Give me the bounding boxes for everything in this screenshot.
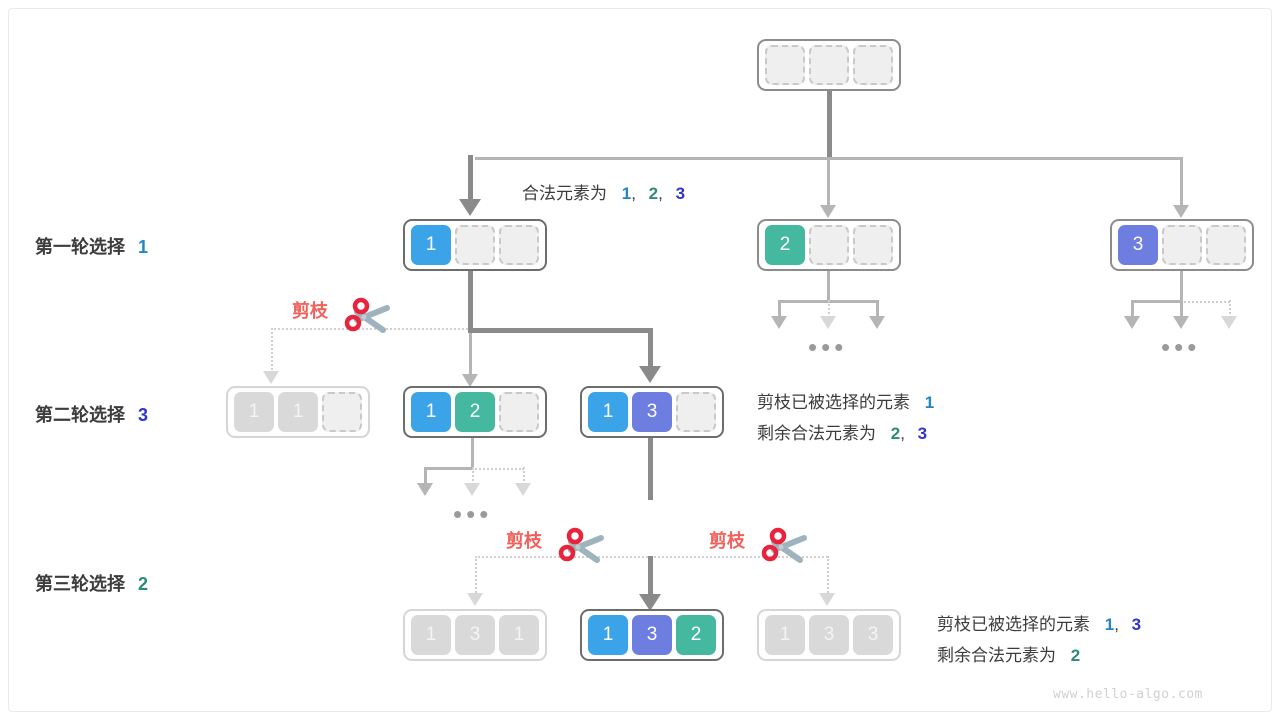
note-legal-v1: 1: [622, 184, 631, 203]
note-legal-v3: 3: [676, 184, 685, 203]
prune-dotted-v-2: [475, 556, 477, 596]
edge-root-right-v: [1180, 157, 1183, 207]
note-row3-line1-v1: 1: [1105, 615, 1114, 634]
cell[interactable]: 2: [676, 615, 716, 655]
cell[interactable]: [499, 392, 539, 432]
edge-root-stem: [827, 91, 832, 157]
cell[interactable]: 3: [632, 615, 672, 655]
cell[interactable]: 1: [234, 392, 274, 432]
edge-r2mid-stem: [471, 434, 474, 468]
ellipsis-1: •••: [808, 334, 847, 360]
edge-root-mid-arrow: [820, 205, 836, 218]
edge-r1right-h: [1131, 300, 1183, 303]
note-legal-v2: 2: [649, 184, 658, 203]
cell[interactable]: 1: [765, 615, 805, 655]
node-r3-right[interactable]: 1 3 3: [757, 609, 901, 661]
edge-root-to-right-h: [829, 157, 1181, 160]
note-legal-elements-top: 合法元素为 1, 2, 3: [522, 179, 685, 204]
node-r3-left[interactable]: 1 3 1: [403, 609, 547, 661]
cell[interactable]: [809, 225, 849, 265]
prune-label-3: 剪枝: [709, 527, 745, 553]
diagram-frame: ••• ••• ••• 1 2: [8, 8, 1272, 712]
edge-r2mid-h: [424, 467, 473, 470]
edge-r1left-stem: [468, 267, 473, 329]
cell[interactable]: [676, 392, 716, 432]
cell[interactable]: 1: [588, 392, 628, 432]
note-row2-line2: 剩余合法元素为 2, 3: [757, 419, 927, 444]
prune-arrow-2: [467, 593, 483, 606]
note-row2-line1: 剪枝已被选择的元素 1: [757, 388, 934, 413]
node-r3-mid[interactable]: 1 3 2: [580, 609, 724, 661]
edge-r1right-c1-arrow: [1124, 316, 1140, 329]
edge-r2right-mid-v: [648, 556, 653, 598]
scissors-icon: [339, 296, 393, 336]
edge-r1left-right-h: [468, 328, 653, 333]
cell[interactable]: [853, 45, 893, 85]
note-row3-line2-prefix: 剩余合法元素为: [937, 646, 1056, 665]
node-r1-mid[interactable]: 2: [757, 219, 901, 271]
cell[interactable]: [809, 45, 849, 85]
note-row2-line2-prefix: 剩余合法元素为: [757, 424, 876, 443]
note-row2-line2-sep: ,: [900, 424, 905, 443]
node-r2-right[interactable]: 1 3: [580, 386, 724, 438]
edge-root-right-arrow: [1173, 205, 1189, 218]
node-r2-pruned[interactable]: 1 1: [226, 386, 370, 438]
cell[interactable]: [322, 392, 362, 432]
edge-r1left-right-arrow: [639, 366, 661, 383]
edge-r1left-mid-v: [469, 328, 472, 376]
row-label-1: 第一轮选择 1: [35, 233, 148, 259]
cell[interactable]: [499, 225, 539, 265]
edge-r1right-h-dotted: [1180, 301, 1230, 303]
cell[interactable]: 2: [765, 225, 805, 265]
note-row2-line2-v2: 3: [918, 424, 927, 443]
edge-r1mid-stem: [827, 267, 830, 301]
cell[interactable]: 2: [455, 392, 495, 432]
cell[interactable]: 3: [455, 615, 495, 655]
prune-dotted-v-1: [271, 328, 273, 374]
cell[interactable]: 3: [809, 615, 849, 655]
edge-r2mid-c1-arrow: [417, 483, 433, 496]
cell[interactable]: 3: [853, 615, 893, 655]
edge-r1mid-c3-arrow: [869, 316, 885, 329]
cell[interactable]: [1206, 225, 1246, 265]
row-label-2-text: 第二轮选择: [35, 405, 125, 425]
cell[interactable]: 1: [588, 615, 628, 655]
cell[interactable]: [765, 45, 805, 85]
note-legal-sep1: ,: [631, 184, 636, 203]
edge-r2mid-c2-arrow: [464, 483, 480, 496]
prune-label-2: 剪枝: [506, 527, 542, 553]
note-row3-line2-v1: 2: [1071, 646, 1080, 665]
scissors-icon: [756, 526, 810, 566]
row-label-2: 第二轮选择 3: [35, 401, 148, 427]
note-row3-line2: 剩余合法元素为 2: [937, 641, 1080, 666]
row-label-1-value: 1: [138, 237, 148, 257]
cell[interactable]: 1: [499, 615, 539, 655]
watermark: www.hello-algo.com: [1053, 687, 1203, 702]
cell[interactable]: 1: [411, 225, 451, 265]
cell[interactable]: 3: [1118, 225, 1158, 265]
edge-root-left-v: [468, 155, 473, 203]
note-row3-line1-sep: ,: [1114, 615, 1119, 634]
cell[interactable]: 1: [278, 392, 318, 432]
node-r1-right[interactable]: 3: [1110, 219, 1254, 271]
edge-r2right-stem: [648, 434, 653, 500]
cell[interactable]: [455, 225, 495, 265]
note-row2-line2-v1: 2: [891, 424, 900, 443]
node-root[interactable]: [757, 39, 901, 91]
note-legal-prefix: 合法元素为: [522, 184, 607, 203]
ellipsis-2: •••: [1161, 334, 1200, 360]
edge-r1mid-c2-arrow: [820, 316, 836, 329]
edge-root-to-left-h: [475, 157, 827, 160]
edge-r2mid-c3-arrow: [515, 483, 531, 496]
row-label-3-value: 2: [138, 574, 148, 594]
edge-r1right-c3-arrow: [1221, 316, 1237, 329]
note-row3-line1: 剪枝已被选择的元素 1, 3: [937, 610, 1141, 635]
edge-r1right-stem: [1180, 267, 1183, 301]
cell[interactable]: [853, 225, 893, 265]
node-r1-left[interactable]: 1: [403, 219, 547, 271]
edge-root-left-arrow: [459, 199, 481, 216]
prune-arrow-3: [819, 593, 835, 606]
note-legal-sep2: ,: [658, 184, 663, 203]
prune-label-1: 剪枝: [292, 297, 328, 323]
cell[interactable]: 1: [411, 615, 451, 655]
node-r2-mid[interactable]: 1 2: [403, 386, 547, 438]
row-label-3: 第三轮选择 2: [35, 570, 148, 596]
cell[interactable]: 1: [411, 392, 451, 432]
note-row3-line1-prefix: 剪枝已被选择的元素: [937, 615, 1090, 634]
diagram-canvas: ••• ••• ••• 1 2: [0, 0, 1280, 720]
edge-r1right-c2-arrow: [1173, 316, 1189, 329]
edge-root-mid-v: [827, 157, 830, 207]
edge-r1mid-c1-arrow: [771, 316, 787, 329]
prune-arrow-1: [263, 371, 279, 384]
row-label-2-value: 3: [138, 405, 148, 425]
cell[interactable]: 3: [632, 392, 672, 432]
note-row3-line1-v2: 3: [1132, 615, 1141, 634]
ellipsis-3: •••: [453, 501, 492, 527]
cell[interactable]: [1162, 225, 1202, 265]
scissors-icon: [553, 526, 607, 566]
note-row2-line1-v1: 1: [925, 393, 934, 412]
prune-dotted-v-3: [827, 556, 829, 596]
note-row2-line1-prefix: 剪枝已被选择的元素: [757, 393, 910, 412]
row-label-3-text: 第三轮选择: [35, 574, 125, 594]
edge-r1left-right-v: [648, 328, 653, 370]
edge-r2mid-h-dotted: [472, 468, 524, 470]
row-label-1-text: 第一轮选择: [35, 237, 125, 257]
